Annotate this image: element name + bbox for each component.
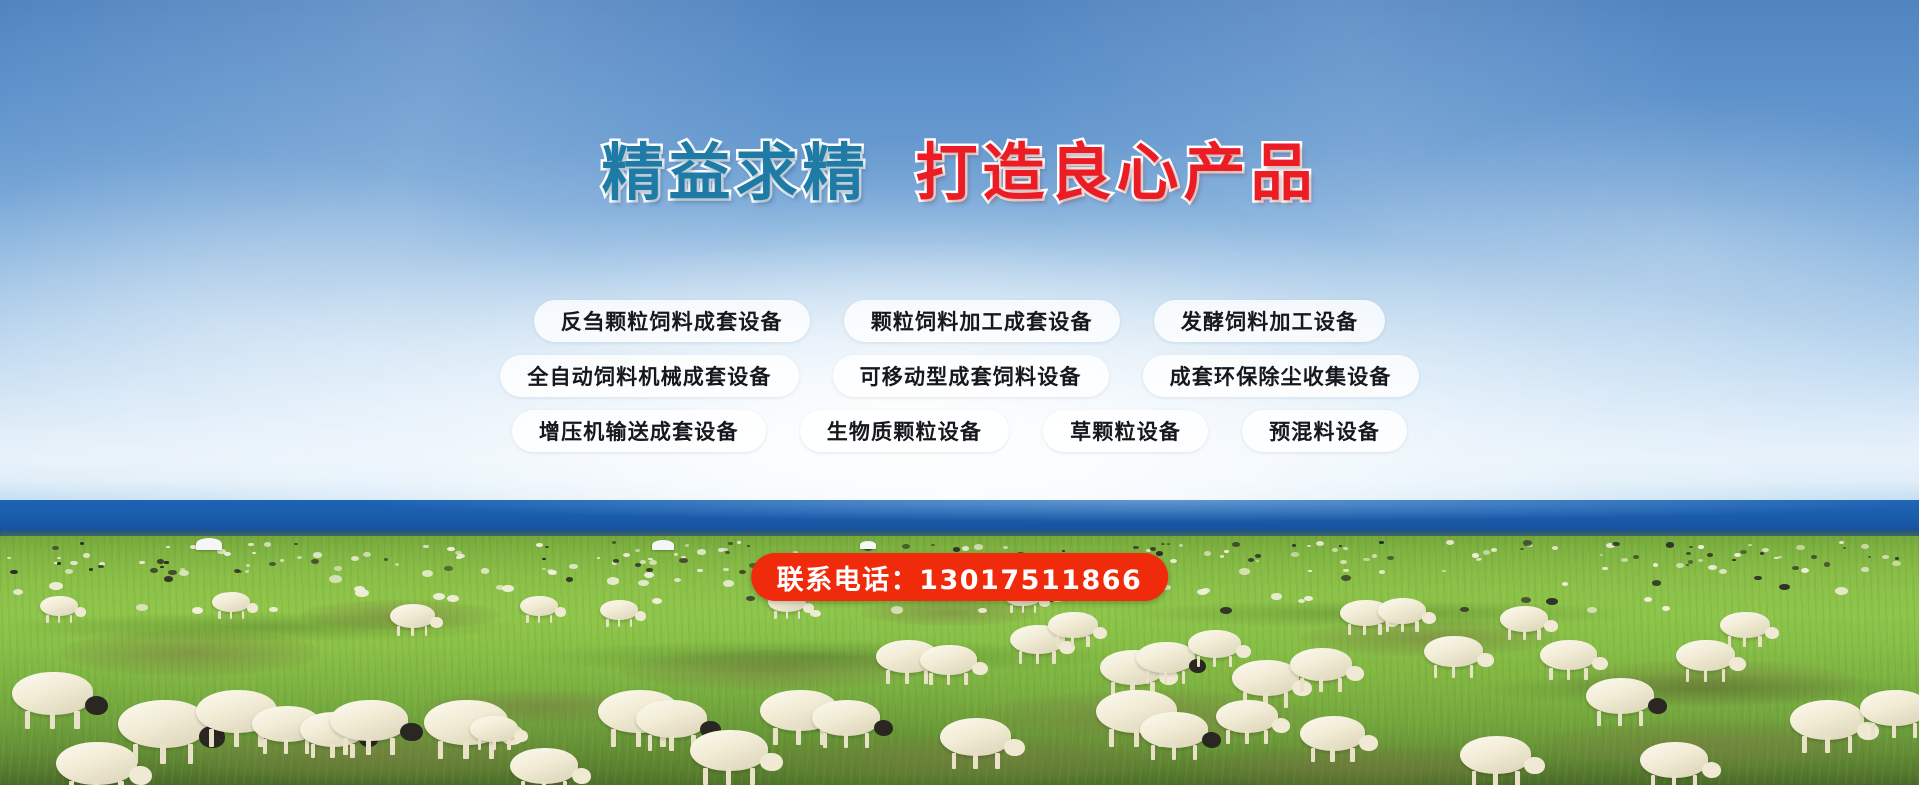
sheep-leg (865, 733, 869, 748)
distant-livestock (1861, 567, 1869, 572)
sheep-leg (343, 738, 348, 756)
distant-livestock (1839, 541, 1844, 544)
product-tag-pill[interactable]: 反刍颗粒饲料成套设备 (534, 300, 810, 342)
distant-livestock (1552, 546, 1559, 550)
distant-livestock (1483, 550, 1490, 555)
sheep-leg (1264, 730, 1268, 744)
distant-livestock (978, 608, 987, 613)
sheep-body (1540, 640, 1597, 670)
sheep-head (555, 607, 566, 616)
sheep-leg (438, 741, 443, 760)
sheep (520, 596, 568, 628)
sheep-leg (74, 711, 79, 729)
sheep (940, 718, 1030, 777)
sheep-leg (1415, 621, 1418, 632)
distant-livestock (1792, 566, 1799, 570)
distant-livestock (1602, 567, 1608, 571)
sheep-leg (1523, 629, 1526, 640)
sheep-body (390, 604, 435, 628)
sheep-body (1424, 636, 1483, 667)
hero-banner: 精益求精打造良心产品 反刍颗粒饲料成套设备颗粒饲料加工成套设备发酵饲料加工设备全… (0, 0, 1919, 785)
sheep-head (1592, 657, 1609, 671)
headline-primary: 精益求精 (601, 142, 869, 204)
sheep-leg (1319, 678, 1323, 692)
distant-livestock (1612, 542, 1620, 547)
distant-livestock (1255, 554, 1261, 558)
sheep-leg (550, 615, 552, 624)
contact-phone-badge[interactable]: 联系电话：13017511866 (751, 553, 1169, 601)
sheep-body (1586, 678, 1654, 714)
sheep (1860, 690, 1919, 746)
distant-livestock (433, 593, 445, 600)
distant-livestock (236, 570, 241, 573)
distant-livestock (640, 560, 646, 564)
sheep-leg (1758, 636, 1761, 647)
distant-livestock (1472, 553, 1479, 558)
sheep-leg (50, 711, 55, 729)
sheep-leg (929, 673, 933, 686)
product-tag-pill[interactable]: 草颗粒设备 (1043, 410, 1208, 452)
product-tag-pill[interactable]: 增压机输送成套设备 (512, 410, 766, 452)
distant-livestock (248, 543, 254, 547)
product-tag-pill[interactable]: 可移动型成套饲料设备 (833, 355, 1109, 397)
sheep-body (1500, 606, 1548, 632)
distant-livestock (164, 576, 173, 582)
product-tag-pill[interactable]: 颗粒饲料加工成套设备 (844, 300, 1120, 342)
distant-livestock (1666, 542, 1675, 547)
product-tag-pill[interactable]: 生物质颗粒设备 (800, 410, 1009, 452)
distant-livestock (334, 566, 341, 571)
sheep-leg (630, 619, 632, 628)
sheep-leg (774, 611, 776, 620)
yurt (860, 541, 876, 549)
sheep-leg (563, 781, 567, 785)
sheep-leg (648, 735, 653, 751)
sheep-leg (25, 711, 30, 729)
sheep-head (874, 720, 894, 737)
sheep-leg (263, 739, 267, 754)
sheep-leg (1036, 651, 1040, 663)
sheep-head (1004, 739, 1025, 756)
distant-livestock (739, 570, 745, 574)
sheep-leg (411, 626, 414, 636)
sheep-leg (1618, 711, 1622, 726)
sheep-body (56, 742, 137, 785)
sheep-body (1460, 736, 1531, 774)
distant-livestock (168, 570, 177, 575)
distant-livestock (649, 560, 657, 565)
sheep-body (1300, 716, 1365, 751)
sheep-body (212, 592, 250, 612)
distant-livestock (1150, 547, 1156, 551)
product-tag-pill[interactable]: 发酵饲料加工设备 (1154, 300, 1386, 342)
distant-livestock (974, 544, 982, 549)
sheep (12, 672, 113, 738)
sheep-body (1378, 598, 1426, 624)
sheep (1460, 736, 1550, 785)
sheep-leg (1245, 730, 1249, 744)
distant-livestock (1861, 544, 1869, 549)
sheep-leg (425, 626, 428, 636)
distant-livestock (269, 607, 278, 612)
product-tag-row: 全自动饲料机械成套设备可移动型成套饲料设备成套环保除尘收集设备 (0, 355, 1919, 397)
product-tag-row: 反刍颗粒饲料成套设备颗粒饲料加工成套设备发酵饲料加工设备 (0, 300, 1919, 342)
sheep-head (803, 603, 814, 612)
sheep-leg (1330, 748, 1334, 763)
sheep (56, 742, 157, 785)
sheep-leg (1515, 771, 1520, 785)
distant-livestock (569, 564, 578, 569)
distant-livestock (313, 552, 322, 558)
sheep (1640, 742, 1726, 785)
sheep-leg (478, 739, 481, 750)
sheep-leg (209, 729, 214, 747)
sheep-leg (242, 611, 244, 620)
sheep (1216, 700, 1294, 751)
distant-livestock (57, 557, 61, 560)
sheep-leg (1913, 723, 1917, 738)
distant-livestock (1523, 540, 1532, 545)
sheep-leg (995, 753, 1000, 769)
sheep-leg (1825, 736, 1830, 753)
sheep (1378, 598, 1439, 638)
sheep-leg (526, 615, 528, 624)
headline: 精益求精打造良心产品 (0, 138, 1919, 204)
sheep-leg (1639, 711, 1643, 726)
sheep-leg (1071, 636, 1074, 647)
distant-livestock (697, 549, 706, 555)
sheep-leg (160, 744, 166, 764)
sheep-body (940, 718, 1011, 756)
sheep-leg (823, 733, 827, 748)
distant-livestock (1304, 596, 1313, 601)
sheep-leg (94, 781, 99, 785)
distant-livestock (1835, 587, 1848, 595)
sheep-head (1359, 735, 1378, 751)
distant-livestock (1271, 593, 1282, 599)
distant-livestock (1653, 563, 1658, 566)
distant-livestock (246, 564, 250, 567)
sheep-leg (947, 673, 951, 686)
product-tag-list: 反刍颗粒饲料成套设备颗粒饲料加工成套设备发酵饲料加工设备全自动饲料机械成套设备可… (0, 300, 1919, 465)
sheep-leg (1052, 651, 1056, 663)
sheep (1290, 648, 1368, 699)
sheep-head (1477, 653, 1494, 667)
sheep-head (1524, 757, 1545, 774)
sheep-leg (118, 781, 123, 785)
sheep-head (75, 607, 86, 616)
sheep (1140, 712, 1226, 768)
sheep-head (1702, 762, 1722, 779)
sheep-leg (1493, 771, 1498, 785)
yurt (652, 540, 674, 550)
sheep-head (85, 696, 108, 716)
sheep-head (1544, 620, 1558, 632)
distant-livestock (1248, 558, 1254, 562)
sheep-leg (1508, 629, 1511, 640)
product-tag-pill[interactable]: 全自动饲料机械成套设备 (500, 355, 798, 397)
sheep-leg (1146, 671, 1150, 684)
sheep-head (514, 730, 528, 742)
sheep-leg (1537, 629, 1540, 640)
distant-livestock (363, 552, 371, 557)
sheep-body (510, 748, 578, 784)
sheep-leg (669, 735, 674, 751)
distant-livestock (1754, 576, 1761, 580)
sheep-leg (1651, 775, 1655, 785)
distant-livestock (329, 575, 342, 583)
sheep-leg (366, 738, 371, 756)
sheep-leg (1350, 748, 1354, 763)
sheep-head (129, 766, 152, 785)
sheep-body (690, 730, 768, 771)
sheep-leg (1704, 669, 1708, 682)
sheep-leg (1311, 748, 1315, 763)
sheep-head (430, 617, 443, 628)
sheep-leg (1386, 621, 1389, 632)
distant-livestock (423, 545, 429, 549)
sheep-leg (1728, 636, 1731, 647)
sheep-body (330, 700, 408, 741)
sheep-leg (1549, 668, 1553, 681)
distant-livestock (1291, 552, 1299, 557)
distant-livestock (1363, 558, 1369, 562)
sheep-leg (1226, 730, 1230, 744)
sheep-leg (1693, 775, 1697, 785)
distant-livestock (160, 566, 163, 568)
sheep (1586, 678, 1672, 734)
sheep-body (118, 700, 208, 748)
distant-livestock (613, 559, 619, 563)
sheep-leg (1802, 736, 1807, 753)
sheep-leg (1019, 651, 1023, 663)
sheep-leg (397, 626, 400, 636)
sheep-leg (1193, 745, 1197, 760)
yurt (196, 538, 222, 550)
distant-livestock (1686, 564, 1689, 566)
sheep-leg (1452, 665, 1456, 678)
distant-livestock (98, 565, 103, 568)
sheep-leg (1164, 671, 1168, 684)
sheep (812, 700, 898, 756)
distant-livestock (1292, 544, 1296, 546)
sheep-head (1093, 627, 1107, 639)
sheep (690, 730, 788, 785)
sheep-leg (1848, 736, 1853, 753)
sheep-head (972, 662, 989, 676)
distant-livestock (1762, 548, 1769, 552)
distant-livestock (1652, 580, 1661, 585)
sheep-leg (69, 781, 74, 785)
sheep-body (1048, 612, 1098, 638)
sheep-leg (218, 611, 220, 620)
sheep (40, 596, 88, 628)
sheep-leg (46, 615, 48, 624)
sheep-body (1136, 642, 1195, 673)
distant-livestock (1796, 545, 1804, 550)
distant-livestock (1895, 557, 1899, 559)
sheep-body (1860, 690, 1919, 726)
product-tag-pill[interactable]: 成套环保除尘收集设备 (1143, 355, 1419, 397)
sheep-leg (1597, 711, 1601, 726)
distant-livestock (679, 558, 688, 563)
distant-livestock (891, 606, 903, 613)
distant-livestock (723, 580, 734, 587)
sheep-leg (1892, 723, 1896, 738)
sheep-leg (606, 619, 608, 628)
sheep-leg (726, 768, 731, 785)
distant-livestock (1316, 541, 1324, 546)
sheep-head (760, 753, 783, 772)
sheep-leg (1300, 678, 1304, 692)
sheep-leg (1010, 605, 1012, 614)
sheep-head (635, 611, 646, 620)
sheep-head (1729, 657, 1746, 671)
distant-livestock (80, 542, 84, 544)
distant-livestock (1662, 606, 1670, 611)
distant-livestock (1824, 562, 1831, 566)
sheep-body (12, 672, 93, 715)
sheep (330, 700, 428, 764)
distant-livestock (192, 607, 203, 614)
sheep-leg (952, 753, 957, 769)
sheep-leg (463, 741, 468, 760)
distant-livestock (447, 547, 455, 552)
sheep (1720, 612, 1782, 653)
sheep-leg (1363, 624, 1366, 635)
sheep-leg (964, 673, 968, 686)
distant-livestock (1239, 568, 1250, 574)
sheep-leg (390, 738, 395, 756)
distant-livestock (384, 558, 388, 561)
distant-livestock (1220, 555, 1224, 558)
sheep-leg (1434, 665, 1438, 678)
distant-livestock (395, 563, 400, 566)
distant-livestock (953, 547, 961, 552)
sheep-leg (1182, 671, 1186, 684)
sheep-leg (234, 729, 239, 747)
distant-livestock (1372, 554, 1378, 558)
distant-livestock (1179, 544, 1183, 547)
distant-livestock (269, 562, 276, 566)
distant-livestock (597, 557, 600, 559)
sheep-body (1216, 700, 1278, 733)
sheep-leg (1134, 729, 1139, 747)
distant-livestock (179, 570, 189, 576)
sheep-leg (611, 729, 616, 747)
distant-livestock (89, 568, 93, 571)
sheep-body (1790, 700, 1864, 740)
sheep-leg (1472, 771, 1477, 785)
distant-livestock (83, 553, 90, 557)
distant-livestock (481, 568, 490, 573)
sheep-head (1765, 627, 1779, 639)
distant-livestock (1156, 551, 1163, 555)
sheep-leg (886, 670, 890, 684)
sheep-leg (1034, 605, 1036, 614)
distant-livestock (1676, 563, 1684, 568)
sheep (920, 645, 992, 692)
distant-livestock (542, 568, 545, 570)
sheep-leg (1348, 624, 1351, 635)
sheep (1048, 612, 1110, 653)
sheep-body (1188, 630, 1241, 658)
sheep-leg (1743, 636, 1746, 647)
distant-livestock (1698, 545, 1703, 548)
sheep-leg (1338, 678, 1342, 692)
sheep-leg (703, 768, 708, 785)
product-tag-pill[interactable]: 预混料设备 (1242, 410, 1407, 452)
sheep-leg (1686, 669, 1690, 682)
sheep-leg (70, 615, 72, 624)
distant-livestock (638, 580, 649, 586)
sheep-body (40, 596, 78, 616)
distant-livestock (1478, 558, 1481, 560)
sheep-leg (542, 781, 546, 785)
sheep (1300, 716, 1382, 770)
distant-livestock (1698, 559, 1703, 562)
distant-livestock (674, 578, 681, 582)
distant-livestock (1520, 548, 1524, 550)
sheep-head (1272, 718, 1290, 733)
sheep-leg (1056, 636, 1059, 647)
headline-secondary: 打造良心产品 (916, 142, 1318, 204)
sheep-leg (493, 739, 496, 750)
distant-livestock (1689, 546, 1693, 549)
sheep (600, 600, 648, 632)
sheep-leg (1672, 775, 1676, 785)
sheep (1424, 636, 1498, 684)
sheep-head (247, 603, 258, 612)
distant-livestock (1587, 607, 1597, 613)
sheep-body (920, 645, 977, 675)
distant-livestock (623, 553, 630, 557)
distant-livestock (536, 543, 543, 547)
distant-livestock (164, 561, 168, 564)
distant-livestock (444, 566, 453, 571)
sheep-leg (521, 781, 525, 785)
sheep-leg (1871, 723, 1875, 738)
distant-livestock (1760, 552, 1764, 555)
distant-livestock (1491, 548, 1497, 552)
distant-livestock (1387, 556, 1393, 560)
distant-livestock (456, 556, 461, 559)
distant-livestock (1707, 553, 1713, 557)
sheep-leg (1109, 729, 1114, 747)
distant-livestock (1732, 559, 1736, 561)
sheep-leg (973, 753, 978, 769)
distant-livestock (1197, 589, 1207, 595)
sheep-leg (796, 728, 801, 746)
distant-livestock (545, 546, 549, 548)
distant-livestock (1161, 543, 1165, 546)
sheep-head (572, 768, 592, 785)
sheep-leg (1401, 621, 1404, 632)
distant-livestock (962, 546, 970, 551)
sheep (390, 604, 446, 641)
sheep-leg (1086, 636, 1089, 647)
sheep-body (520, 596, 558, 616)
sheep-leg (750, 768, 755, 785)
distant-livestock (245, 570, 250, 573)
sheep-leg (1197, 656, 1200, 668)
sheep (510, 748, 596, 785)
sheep-leg (1213, 656, 1216, 668)
sheep-head (1648, 698, 1668, 715)
distant-livestock (902, 544, 910, 549)
distant-livestock (1621, 558, 1627, 562)
sheep-head (1422, 612, 1436, 624)
